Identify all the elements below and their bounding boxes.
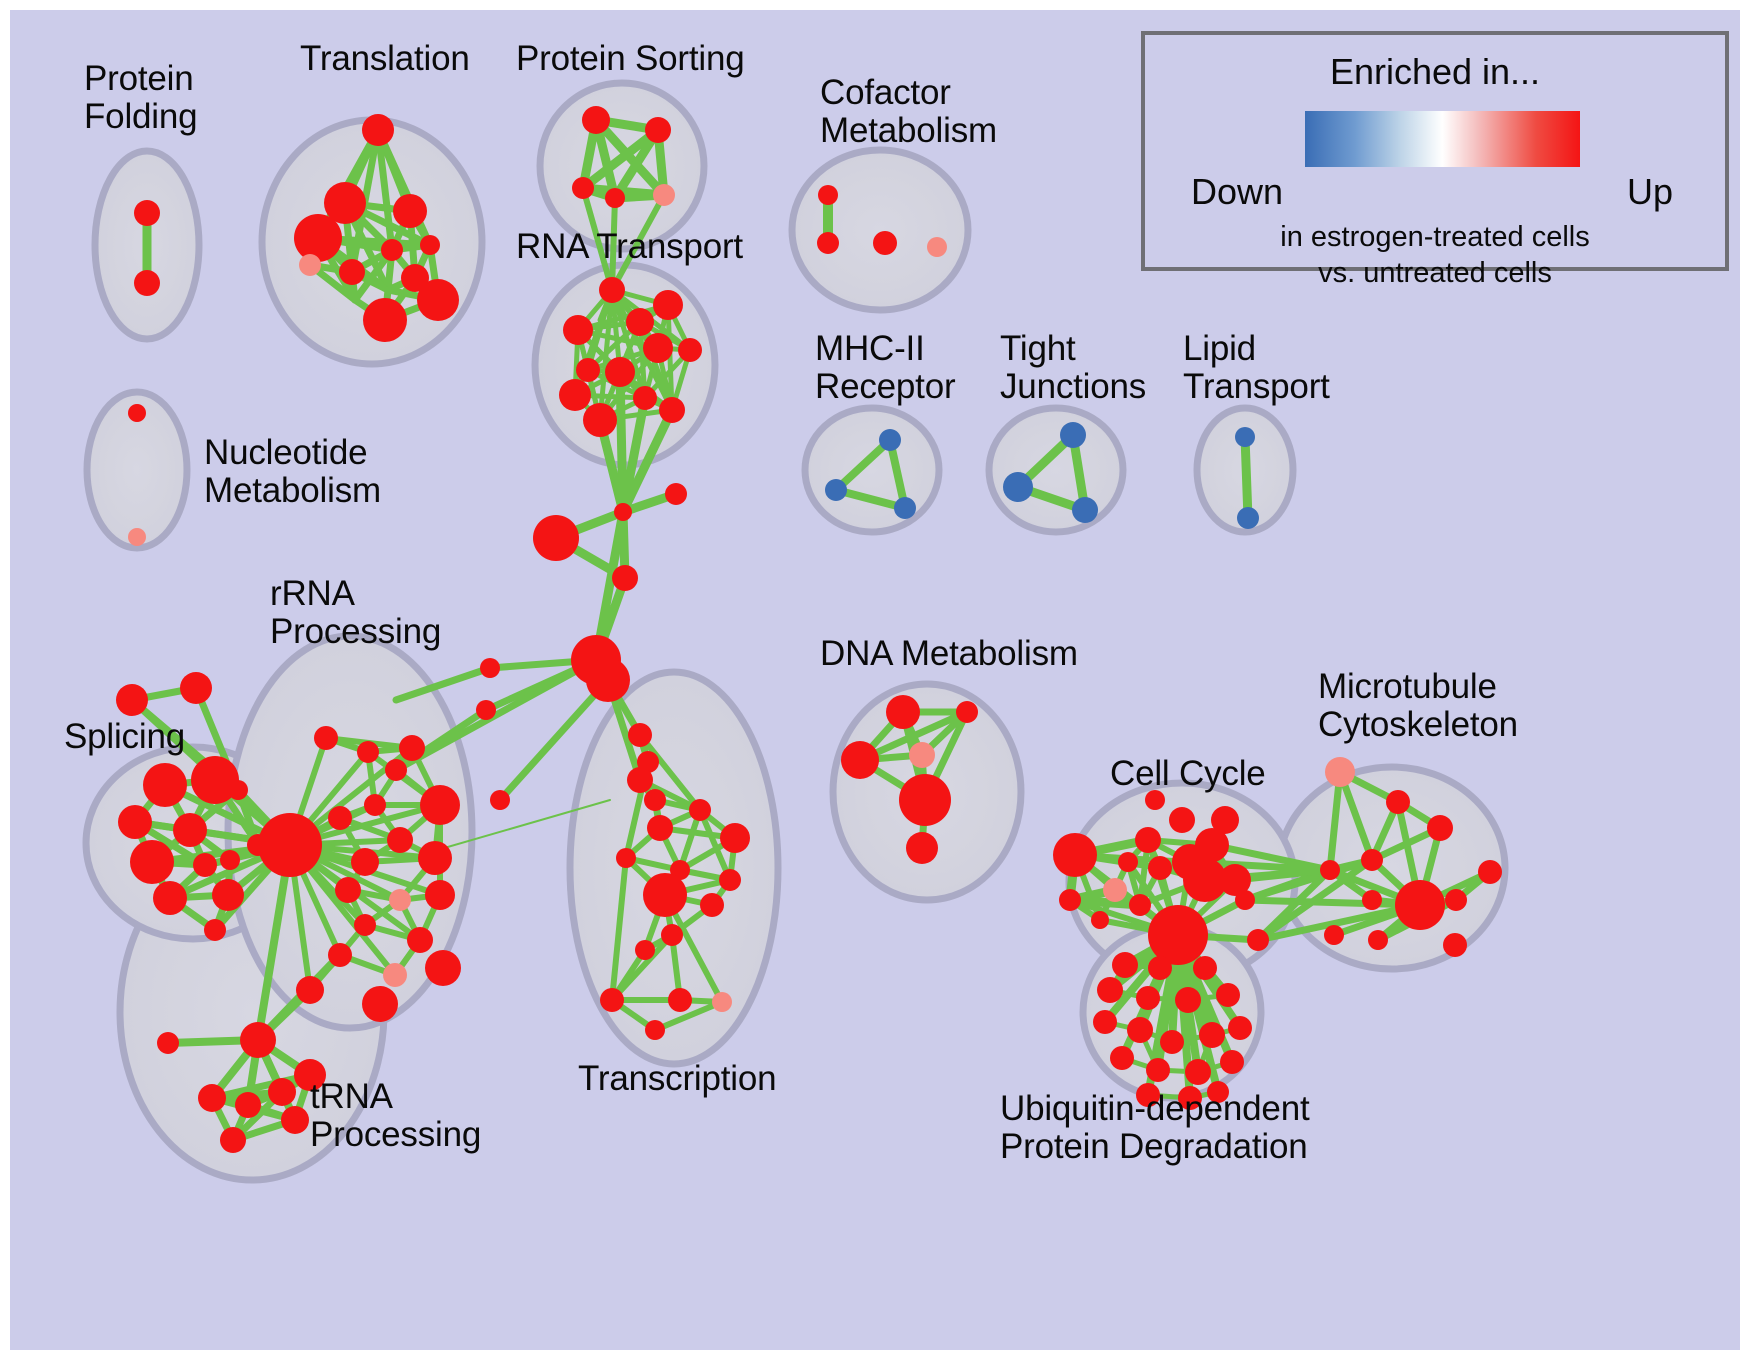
- cluster-label-rna-transport: RNA Transport: [516, 228, 743, 266]
- legend-high-label: Up: [1627, 171, 1673, 213]
- cluster-label-ubiquitin-degradation: Ubiquitin-dependent Protein Degradation: [1000, 1090, 1310, 1166]
- legend-low-label: Down: [1191, 171, 1283, 213]
- legend-caption-line2: vs. untreated cells: [1145, 257, 1725, 290]
- cluster-blob-mhc-ii-receptor: [805, 408, 939, 532]
- cluster-label-lipid-transport: Lipid Transport: [1183, 330, 1330, 406]
- cluster-label-transcription: Transcription: [578, 1060, 776, 1098]
- cluster-label-translation: Translation: [300, 40, 470, 78]
- cluster-label-microtubule-cytoskeleton: Microtubule Cytoskeleton: [1318, 668, 1518, 744]
- cluster-label-rrna-processing: rRNA Processing: [270, 575, 441, 651]
- cluster-label-cofactor-metabolism: Cofactor Metabolism: [820, 74, 997, 150]
- legend-caption-line1: in estrogen-treated cells: [1145, 221, 1725, 254]
- cluster-blob-tight-junctions: [989, 408, 1123, 532]
- cluster-label-mhc-ii-receptor: MHC-II Receptor: [815, 330, 955, 406]
- cluster-label-cell-cycle: Cell Cycle: [1110, 755, 1266, 793]
- cluster-label-splicing: Splicing: [64, 718, 185, 756]
- legend-title: Enriched in...: [1145, 51, 1725, 93]
- cluster-label-trna-processing: tRNA Processing: [310, 1078, 481, 1154]
- cluster-blob-protein-sorting: [540, 83, 704, 249]
- cluster-label-tight-junctions: Tight Junctions: [1000, 330, 1146, 406]
- cluster-label-protein-sorting: Protein Sorting: [516, 40, 745, 78]
- legend-color-bar: [1305, 111, 1580, 167]
- cluster-blob-cofactor-metabolism: [792, 150, 968, 310]
- cluster-label-protein-folding: Protein Folding: [84, 60, 197, 136]
- figure-root: Protein Folding Translation Protein Sort…: [0, 0, 1750, 1360]
- cluster-label-nucleotide-metabolism: Nucleotide Metabolism: [204, 434, 381, 510]
- legend-panel: Enriched in... Down Up in estrogen-treat…: [1141, 31, 1729, 271]
- cluster-label-dna-metabolism: DNA Metabolism: [820, 635, 1078, 673]
